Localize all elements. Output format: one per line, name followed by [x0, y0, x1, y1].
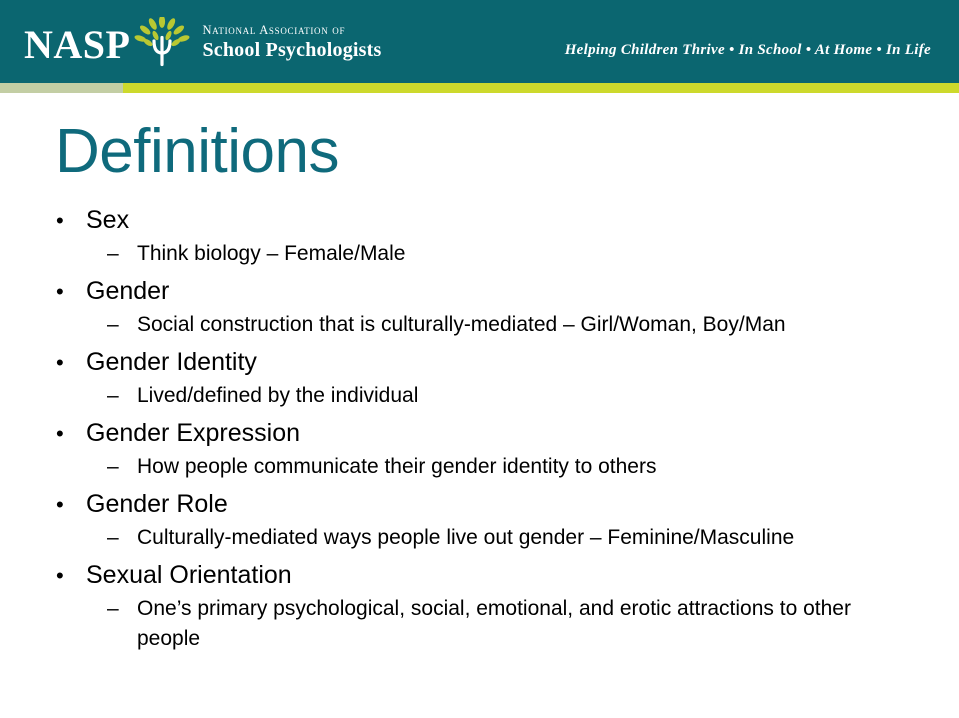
- dash-icon: –: [50, 239, 137, 269]
- bullet-icon: •: [50, 346, 86, 379]
- psi-laurel-icon: [134, 17, 190, 69]
- definition-label: One’s primary psychological, social, emo…: [137, 594, 897, 654]
- term-row: • Gender Role: [50, 488, 930, 521]
- logo-acronym: NASP: [24, 25, 130, 65]
- term-row: • Gender Identity: [50, 346, 930, 379]
- definition-row: – How people communicate their gender id…: [50, 452, 930, 482]
- bullet-icon: •: [50, 417, 86, 450]
- term-label: Sex: [86, 204, 129, 237]
- header-tagline: Helping Children Thrive • In School • At…: [565, 42, 931, 59]
- term-row: • Gender: [50, 275, 930, 308]
- definition-label: Think biology – Female/Male: [137, 239, 405, 269]
- term-row: • Sex: [50, 204, 930, 237]
- definitions-list: • Sex – Think biology – Female/Male • Ge…: [50, 204, 930, 660]
- list-item: • Gender Expression – How people communi…: [50, 417, 930, 482]
- term-row: • Sexual Orientation: [50, 559, 930, 592]
- term-label: Gender Expression: [86, 417, 300, 450]
- accent-stripe-left: [0, 83, 123, 93]
- definition-label: Lived/defined by the individual: [137, 381, 418, 411]
- definition-row: – One’s primary psychological, social, e…: [50, 594, 930, 654]
- dash-icon: –: [50, 310, 137, 340]
- definition-row: – Think biology – Female/Male: [50, 239, 930, 269]
- term-label: Gender: [86, 275, 169, 308]
- term-label: Gender Identity: [86, 346, 257, 379]
- list-item: • Sexual Orientation – One’s primary psy…: [50, 559, 930, 654]
- nasp-logo: NASP: [24, 17, 381, 69]
- list-item: • Gender – Social construction that is c…: [50, 275, 930, 340]
- logo-wordmark: National Association of School Psycholog…: [202, 23, 381, 62]
- bullet-icon: •: [50, 488, 86, 521]
- term-label: Sexual Orientation: [86, 559, 292, 592]
- dash-icon: –: [50, 594, 137, 624]
- definition-row: – Culturally-mediated ways people live o…: [50, 523, 930, 553]
- term-row: • Gender Expression: [50, 417, 930, 450]
- dash-icon: –: [50, 452, 137, 482]
- logo-wordmark-line2: School Psychologists: [202, 39, 381, 63]
- definition-row: – Lived/defined by the individual: [50, 381, 930, 411]
- accent-stripe-right: [123, 83, 959, 93]
- slide-body: Definitions • Sex – Think biology – Fema…: [0, 93, 959, 718]
- dash-icon: –: [50, 523, 137, 553]
- list-item: • Sex – Think biology – Female/Male: [50, 204, 930, 269]
- definition-label: Culturally-mediated ways people live out…: [137, 523, 794, 553]
- bullet-icon: •: [50, 204, 86, 237]
- list-item: • Gender Role – Culturally-mediated ways…: [50, 488, 930, 553]
- definition-label: Social construction that is culturally-m…: [137, 310, 786, 340]
- definition-row: – Social construction that is culturally…: [50, 310, 930, 340]
- definition-label: How people communicate their gender iden…: [137, 452, 656, 482]
- bullet-icon: •: [50, 559, 86, 592]
- page-title: Definitions: [55, 121, 339, 183]
- accent-stripe: [0, 83, 959, 93]
- bullet-icon: •: [50, 275, 86, 308]
- logo-wordmark-line1: National Association of: [202, 23, 381, 39]
- header-banner: NASP: [0, 0, 959, 83]
- term-label: Gender Role: [86, 488, 228, 521]
- list-item: • Gender Identity – Lived/defined by the…: [50, 346, 930, 411]
- dash-icon: –: [50, 381, 137, 411]
